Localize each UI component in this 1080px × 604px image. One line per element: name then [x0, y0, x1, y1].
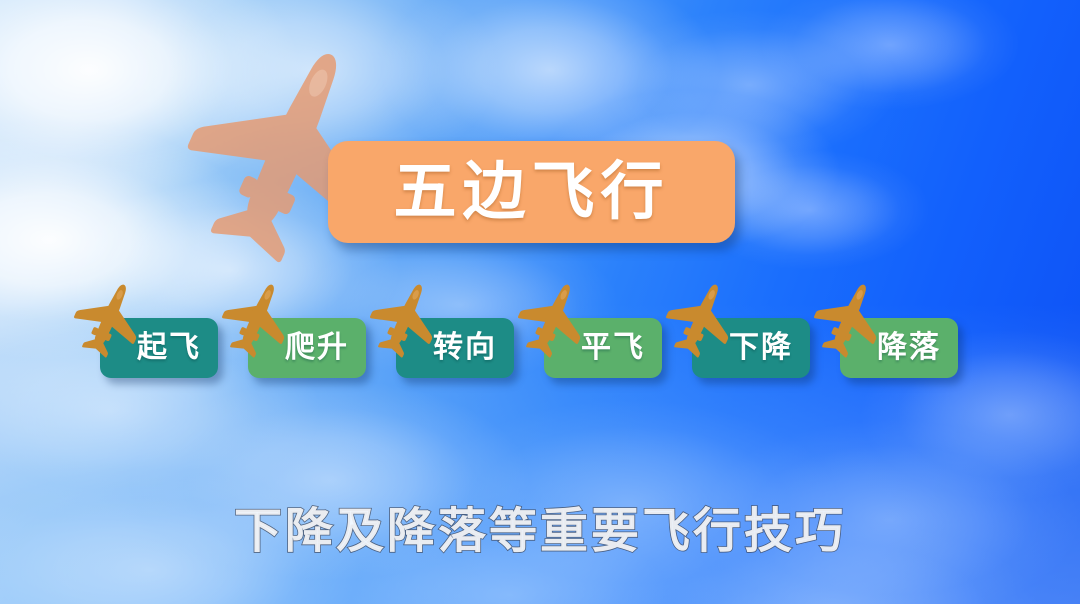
- page-title: 五边飞行: [394, 161, 670, 224]
- title-banner: 五边飞行: [328, 141, 735, 243]
- flight-stage-list: 起飞 爬升: [0, 272, 1080, 392]
- flight-stage-item-6[interactable]: 降落: [792, 272, 967, 390]
- subtitle-caption: 下降及降落等重要飞行技巧: [0, 505, 1080, 559]
- title-card-scene: 五边飞行 起飞: [0, 0, 1080, 604]
